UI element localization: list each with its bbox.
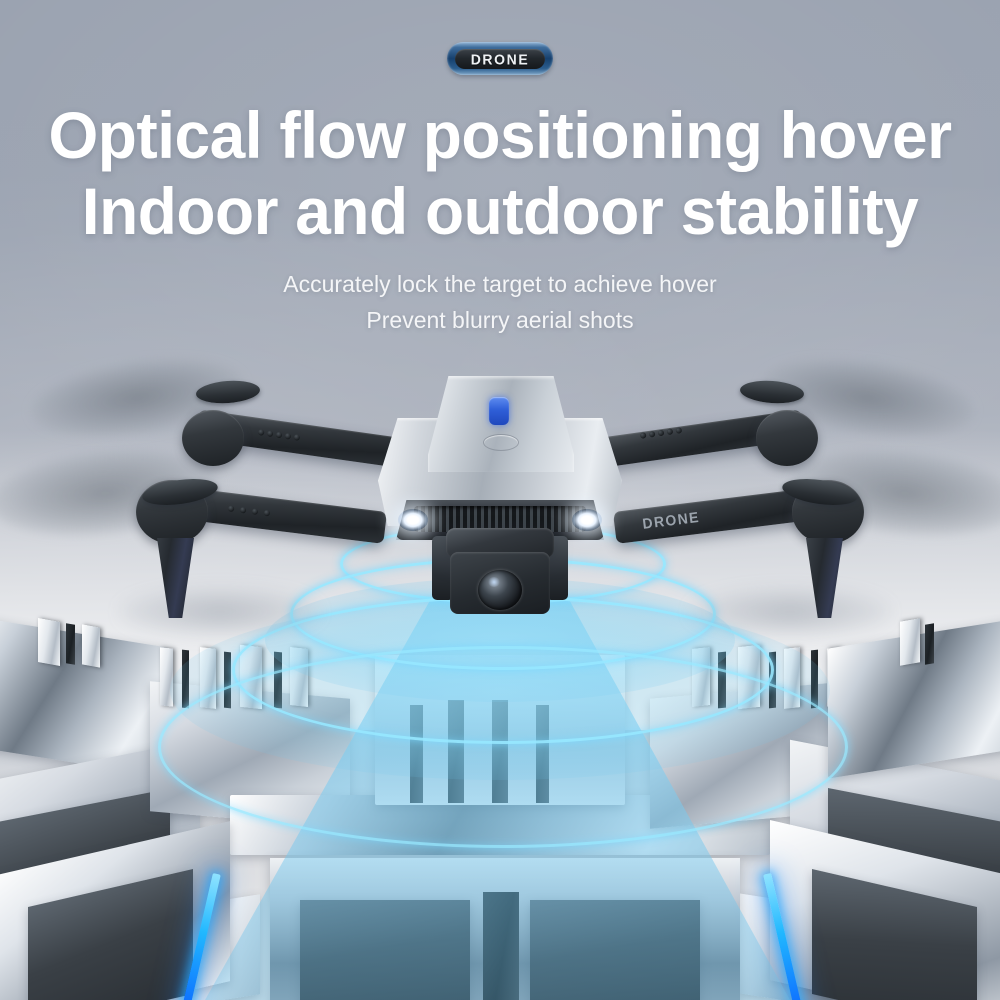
vent <box>228 505 235 512</box>
shadow-right <box>690 588 890 636</box>
vent <box>240 507 247 514</box>
drone-logo-badge: DRONE <box>447 42 553 75</box>
logo-badge-inner: DRONE <box>455 49 545 69</box>
motor-hub-rear-right <box>756 410 818 466</box>
vent <box>258 429 265 436</box>
logo-label: DRONE <box>471 50 530 67</box>
subtitle-line-1: Accurately lock the target to achieve ho… <box>0 266 1000 302</box>
headline-line-2: Indoor and outdoor stability <box>15 173 985 249</box>
vent <box>649 431 656 438</box>
vent <box>293 434 300 441</box>
vent <box>252 508 259 515</box>
vent <box>675 427 682 434</box>
headlight-right <box>572 509 602 531</box>
page-title: Optical flow positioning hover Indoor an… <box>15 97 985 249</box>
vent <box>264 510 271 517</box>
vent <box>276 432 283 439</box>
headlight-left <box>398 509 428 531</box>
promo-banner: DRONE DRONE Optical flow positioning hov… <box>0 0 1000 1000</box>
shadow-left <box>120 588 320 636</box>
brand-emblem-icon <box>483 434 519 451</box>
vent <box>667 428 674 435</box>
status-led-indicator <box>489 397 509 425</box>
arm-brand-label: DRONE <box>642 508 701 532</box>
camera-lens <box>478 570 522 610</box>
subtitle-line-2: Prevent blurry aerial shots <box>0 302 1000 338</box>
vent <box>285 433 292 440</box>
vent <box>640 432 647 439</box>
motor-hub-rear-left <box>182 410 244 466</box>
vent <box>267 430 274 437</box>
vent <box>658 430 665 437</box>
page-subtitle: Accurately lock the target to achieve ho… <box>0 266 1000 338</box>
headline-line-1: Optical flow positioning hover <box>15 97 985 173</box>
